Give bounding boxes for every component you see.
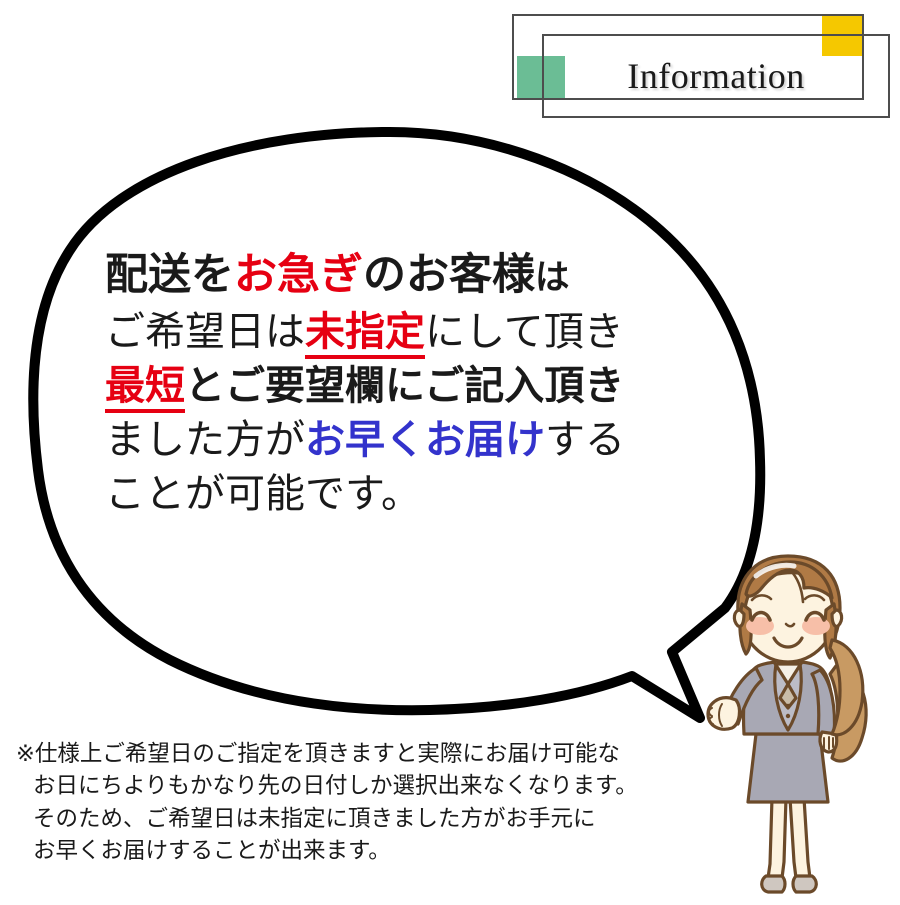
bubble-line-3-emphasis: 最短: [105, 363, 185, 413]
bubble-line-4: ました方がお早くお届けする: [105, 416, 705, 464]
bubble-line-1-tail: は: [535, 258, 569, 298]
footnote-line-4: お早くお届けすることが出来ます。: [16, 835, 756, 867]
footnote-line-1: ※仕様上ご希望日のご指定を頂きますと実際にお届け可能な: [16, 738, 756, 770]
bubble-line-2-emphasis: 未指定: [305, 309, 425, 359]
footnote-line-2: お日にちよりもかなり先の日付しか選択出来なくなります。: [16, 770, 756, 802]
bubble-text-block: 配送をお急ぎのお客様は ご希望日は未指定にして頂き 最短とご要望欄にご記入頂き …: [105, 250, 705, 524]
bubble-line-1-post: のお客様: [363, 250, 535, 300]
bubble-line-4-pre: ました方が: [105, 417, 305, 463]
bubble-line-4-emphasis: お早くお届け: [305, 417, 545, 463]
bubble-line-3-post: とご要望欄にご記入頂き: [185, 363, 624, 409]
bubble-line-2: ご希望日は未指定にして頂き: [105, 308, 705, 356]
bubble-line-2-pre: ご希望日は: [105, 309, 305, 355]
footnote-block: ※仕様上ご希望日のご指定を頂きますと実際にお届け可能な お日にちよりもかなり先の…: [16, 738, 756, 868]
speech-bubble: 配送をお急ぎのお客様は ご希望日は未指定にして頂き 最短とご要望欄にご記入頂き …: [0, 120, 780, 740]
businesswoman-illustration: [686, 548, 900, 900]
bubble-line-3: 最短とご要望欄にご記入頂き: [105, 362, 705, 410]
header-banner: Information: [500, 0, 900, 130]
bubble-line-1: 配送をお急ぎのお客様は: [105, 250, 705, 302]
bubble-line-5: ことが可能です。: [105, 470, 705, 518]
bubble-line-2-post: にして頂き: [425, 309, 624, 355]
bubble-line-1-emphasis: お急ぎ: [234, 250, 363, 300]
page-title: Information: [542, 34, 890, 118]
footnote-line-3: そのため、ご希望日は未指定に頂きました方がお手元に: [16, 803, 756, 835]
bubble-line-4-post: する: [545, 417, 625, 463]
bubble-line-1-pre: 配送を: [105, 250, 234, 300]
businesswoman-icon: [686, 548, 900, 900]
